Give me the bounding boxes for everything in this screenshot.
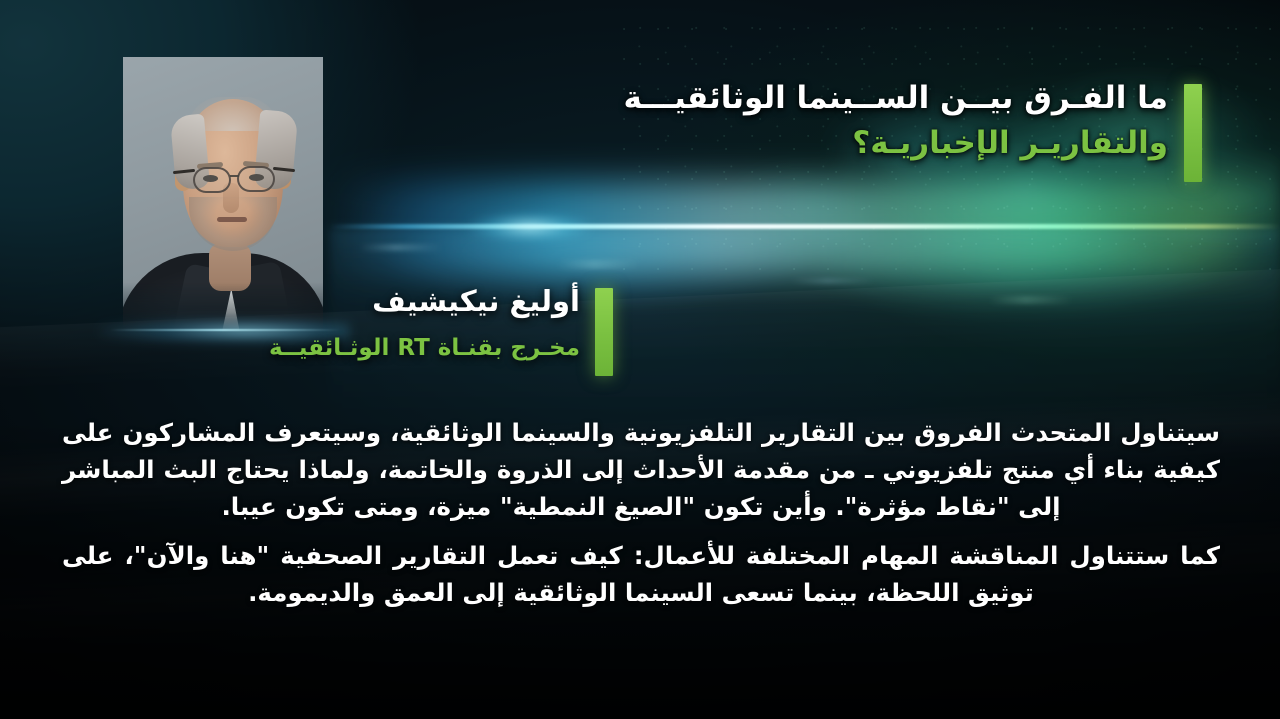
title-line-1: ما الفـرق بيــن الســينما الوثائقيـــة — [528, 76, 1168, 121]
portrait-mouth — [217, 217, 247, 222]
title-accent-bar — [1184, 84, 1202, 182]
title-line-2: والتقاريـر الإخباريـة؟ — [528, 121, 1168, 166]
webinar-announcement-slide: ما الفـرق بيــن الســينما الوثائقيـــة و… — [0, 0, 1280, 719]
description-p1-line-2: كيفية بناء أي منتج تلفزيوني ـ من مقدمة ا… — [62, 451, 1220, 488]
description-paragraph-2: كما ستتناول المناقشة المهام المختلفة للأ… — [62, 537, 1220, 611]
portrait-glasses-lens-left — [193, 167, 231, 193]
title-block: ما الفـرق بيــن الســينما الوثائقيـــة و… — [528, 76, 1168, 167]
portrait-glasses-bridge — [230, 175, 239, 177]
description-block: سيتناول المتحدث الفروق بين التقارير التل… — [62, 414, 1220, 611]
speaker-block: أوليغ نيكيشيف مخـرج بقنـاة RT الوثـائقيـ… — [160, 280, 580, 366]
description-paragraph-1: سيتناول المتحدث الفروق بين التقارير التل… — [62, 414, 1220, 526]
description-p2-line-2: توثيق اللحظة، بينما تسعى السينما الوثائق… — [62, 574, 1220, 611]
description-p1-line-3: إلى "نقاط مؤثرة". وأين تكون "الصيغ النمط… — [62, 488, 1220, 525]
portrait-glasses-lens-right — [237, 166, 275, 192]
description-p1-line-1: سيتناول المتحدث الفروق بين التقارير التل… — [62, 414, 1220, 451]
speaker-name: أوليغ نيكيشيف — [160, 280, 580, 324]
speaker-accent-bar — [595, 288, 613, 376]
speaker-role: مخـرج بقنـاة RT الوثـائقيــة — [160, 331, 580, 367]
description-p2-line-1: كما ستتناول المناقشة المهام المختلفة للأ… — [62, 537, 1220, 574]
